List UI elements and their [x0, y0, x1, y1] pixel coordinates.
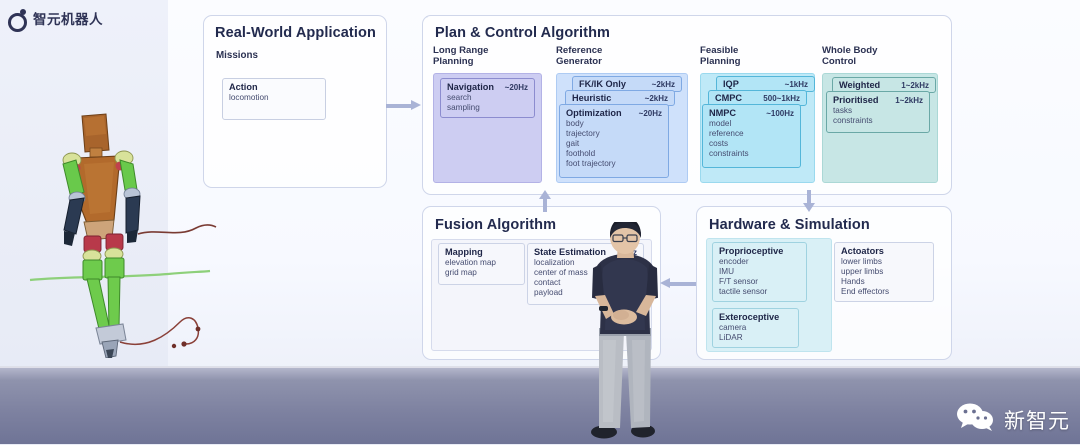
- card-item: tactile sensor: [719, 287, 800, 297]
- presenter-person: [572, 222, 678, 440]
- card-frequency: ~1kHz: [785, 80, 808, 89]
- card-frequency: 500~1kHz: [763, 94, 800, 103]
- block-title-plan-control: Plan & Control Algorithm: [435, 25, 610, 41]
- card-prioritised[interactable]: Prioritised 1~2kHz tasks constraints: [826, 91, 930, 133]
- card-item: upper limbs: [841, 267, 927, 277]
- card-actuators[interactable]: Actoators lower limbs upper limbs Hands …: [834, 242, 934, 302]
- card-item: F/T sensor: [719, 277, 800, 287]
- card-frequency: ~20Hz: [639, 109, 662, 118]
- card-item: body: [566, 119, 662, 129]
- card-item: constraints: [709, 149, 794, 159]
- card-item: LiDAR: [719, 333, 792, 343]
- card-item: costs: [709, 139, 794, 149]
- card-title: Exteroceptive: [719, 312, 779, 322]
- card-exteroceptive[interactable]: Exteroceptive camera LiDAR: [712, 308, 799, 348]
- stage-floor: [0, 366, 1080, 444]
- arrow-plan-to-hardware: [803, 190, 815, 212]
- card-title: CMPC: [715, 93, 742, 103]
- column-title-reference-generator: Reference Generator: [556, 45, 602, 68]
- card-title: Action: [229, 82, 258, 92]
- arrow-application-to-plan: [386, 100, 422, 110]
- card-title: IQP: [723, 79, 739, 89]
- brand-logo: 智元机器人: [8, 8, 103, 28]
- column-title-feasible-planning: Feasible Planning: [700, 45, 741, 68]
- card-item: locomotion: [229, 93, 319, 103]
- card-item: constraints: [833, 116, 923, 126]
- card-item: model: [709, 119, 794, 129]
- card-item: Hands: [841, 277, 927, 287]
- card-title: Proprioceptive: [719, 246, 783, 256]
- column-title-whole-body-control: Whole Body Control: [822, 45, 877, 68]
- card-item: foot trajectory: [566, 159, 662, 169]
- card-title: FK/IK Only: [579, 79, 626, 89]
- card-title: Weighted: [839, 80, 880, 90]
- card-frequency: 1~2kHz: [895, 96, 923, 105]
- card-item: grid map: [445, 268, 518, 278]
- card-item: foothold: [566, 149, 662, 159]
- card-title: Heuristic: [572, 93, 611, 103]
- card-action-box[interactable]: Action locomotion: [222, 78, 326, 120]
- card-item: encoder: [719, 257, 800, 267]
- card-frequency: ~2kHz: [652, 80, 675, 89]
- card-item: elevation map: [445, 258, 518, 268]
- brand-name: 智元机器人: [33, 8, 103, 28]
- card-item: lower limbs: [841, 257, 927, 267]
- card-title: Prioritised: [833, 95, 878, 105]
- subtitle-missions: Missions: [216, 50, 258, 61]
- channel-watermark: 新智元: [955, 403, 1070, 436]
- card-item: End effectors: [841, 287, 927, 297]
- card-title: NMPC: [709, 108, 736, 118]
- card-item: search: [447, 93, 528, 103]
- card-item: IMU: [719, 267, 800, 277]
- card-title: Mapping: [445, 247, 483, 257]
- card-title: Optimization: [566, 108, 622, 118]
- card-frequency: ~20Hz: [505, 83, 528, 92]
- card-frequency: ~2kHz: [645, 94, 668, 103]
- column-title-long-range-planning: Long Range Planning: [433, 45, 488, 68]
- card-title: Navigation: [447, 82, 494, 92]
- card-frequency: ~100Hz: [766, 109, 794, 118]
- card-item: camera: [719, 323, 792, 333]
- robot-kinematic-illustration: [28, 88, 218, 358]
- card-optimization[interactable]: Optimization ~20Hz body trajectory gait …: [559, 104, 669, 178]
- circle-dot-logo-icon: [8, 9, 27, 28]
- card-navigation[interactable]: Navigation ~20Hz search sampling: [440, 78, 535, 118]
- card-item: trajectory: [566, 129, 662, 139]
- block-title-real-world-application: Real-World Application: [215, 25, 376, 41]
- card-nmpc[interactable]: NMPC ~100Hz model reference costs constr…: [702, 104, 801, 168]
- card-frequency: 1~2kHz: [901, 81, 929, 90]
- card-item: sampling: [447, 103, 528, 113]
- card-item: tasks: [833, 106, 923, 116]
- arrow-fusion-to-plan: [539, 190, 551, 212]
- watermark-text: 新智元: [1004, 405, 1070, 435]
- card-mapping[interactable]: Mapping elevation map grid map: [438, 243, 525, 285]
- block-title-hardware-simulation: Hardware & Simulation: [709, 217, 870, 233]
- wechat-icon: [955, 403, 997, 436]
- card-title: Actoators: [841, 246, 884, 256]
- card-item: reference: [709, 129, 794, 139]
- card-item: gait: [566, 139, 662, 149]
- card-proprioceptive[interactable]: Proprioceptive encoder IMU F/T sensor ta…: [712, 242, 807, 302]
- block-title-fusion-algorithm: Fusion Algorithm: [435, 217, 556, 233]
